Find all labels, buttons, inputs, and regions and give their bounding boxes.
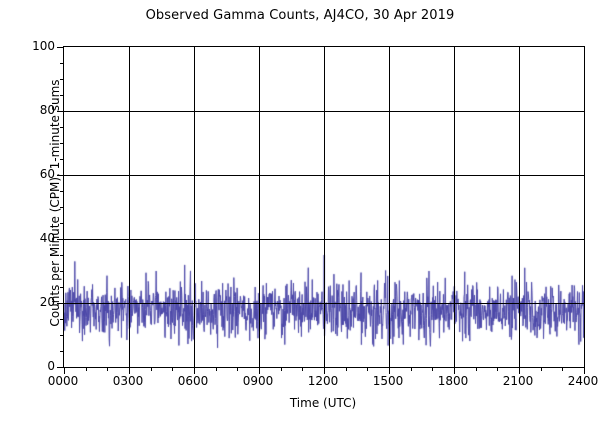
y-axis-minor-tick — [60, 63, 64, 64]
x-axis-tick-label: 2100 — [503, 374, 534, 388]
plot-area — [63, 46, 585, 368]
x-axis-tick-label: 1500 — [373, 374, 404, 388]
x-axis-minor-tick — [151, 367, 152, 371]
y-axis-minor-tick — [60, 271, 64, 272]
x-axis-minor-tick — [476, 367, 477, 371]
x-axis-tick — [454, 367, 455, 374]
y-axis-tick-label: 40 — [40, 231, 55, 245]
y-axis-tick-label: 0 — [47, 359, 55, 373]
x-axis-tick-label: 1200 — [308, 374, 339, 388]
y-axis-minor-tick — [60, 127, 64, 128]
x-axis-minor-tick — [562, 367, 563, 371]
y-axis-tick — [57, 367, 64, 368]
x-axis-tick-label: 0300 — [113, 374, 144, 388]
y-axis-minor-tick — [60, 255, 64, 256]
x-axis-minor-tick — [172, 367, 173, 371]
grid-line-vertical — [194, 47, 195, 367]
y-axis-minor-tick — [60, 95, 64, 96]
x-axis-tick-label: 0000 — [48, 374, 79, 388]
grid-line-vertical — [519, 47, 520, 367]
x-axis-minor-tick — [497, 367, 498, 371]
x-axis-minor-tick — [216, 367, 217, 371]
x-axis-tick — [519, 367, 520, 374]
x-axis-minor-tick — [281, 367, 282, 371]
y-axis-minor-tick — [60, 143, 64, 144]
x-axis-tick — [194, 367, 195, 374]
y-axis-minor-tick — [60, 159, 64, 160]
grid-line-vertical — [324, 47, 325, 367]
x-axis-minor-tick — [367, 367, 368, 371]
x-axis-tick — [584, 367, 585, 374]
y-axis-minor-tick — [60, 319, 64, 320]
y-axis-tick — [57, 175, 64, 176]
x-axis-tick-label: 0600 — [178, 374, 209, 388]
chart-title: Observed Gamma Counts, AJ4CO, 30 Apr 201… — [0, 8, 600, 23]
y-axis-minor-tick — [60, 207, 64, 208]
x-axis-minor-tick — [346, 367, 347, 371]
x-axis-minor-tick — [432, 367, 433, 371]
y-axis-tick — [57, 111, 64, 112]
grid-line-vertical — [454, 47, 455, 367]
y-axis-tick-label: 100 — [32, 39, 55, 53]
y-axis-tick — [57, 303, 64, 304]
x-axis-tick — [324, 367, 325, 374]
x-axis-minor-tick — [107, 367, 108, 371]
x-axis-tick — [129, 367, 130, 374]
x-axis-tick — [389, 367, 390, 374]
grid-line-vertical — [129, 47, 130, 367]
x-axis-minor-tick — [541, 367, 542, 371]
x-axis-minor-tick — [237, 367, 238, 371]
y-axis-tick-label: 60 — [40, 167, 55, 181]
chart-figure: Observed Gamma Counts, AJ4CO, 30 Apr 201… — [0, 0, 600, 428]
x-axis-tick-label: 1800 — [438, 374, 469, 388]
y-axis-tick — [57, 239, 64, 240]
x-axis-tick-labels: 000003000600090012001500180021002400 — [63, 374, 583, 390]
x-axis-tick — [259, 367, 260, 374]
y-axis-minor-tick — [60, 191, 64, 192]
grid-line-vertical — [389, 47, 390, 367]
x-axis-minor-tick — [302, 367, 303, 371]
x-axis-title: Time (UTC) — [63, 396, 583, 410]
y-axis-minor-tick — [60, 351, 64, 352]
x-axis-tick-label: 2400 — [568, 374, 599, 388]
y-axis-tick — [57, 47, 64, 48]
y-axis-minor-tick — [60, 287, 64, 288]
x-axis-minor-tick — [86, 367, 87, 371]
y-axis-tick-label: 20 — [40, 295, 55, 309]
y-axis-minor-tick — [60, 79, 64, 80]
x-axis-minor-tick — [411, 367, 412, 371]
x-axis-tick-label: 0900 — [243, 374, 274, 388]
y-axis-tick-labels: 020406080100 — [0, 46, 55, 366]
x-axis-tick — [64, 367, 65, 374]
y-axis-tick-label: 80 — [40, 103, 55, 117]
y-axis-minor-tick — [60, 223, 64, 224]
grid-line-vertical — [259, 47, 260, 367]
y-axis-minor-tick — [60, 335, 64, 336]
